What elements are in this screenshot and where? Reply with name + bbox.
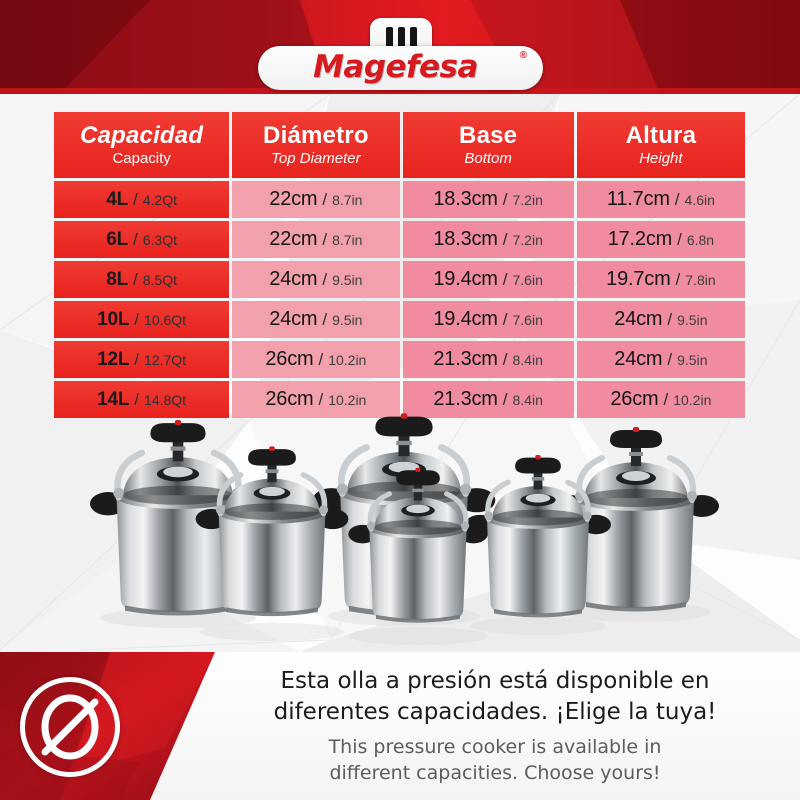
cell-height: 11.7cm / 4.6in — [577, 181, 745, 218]
value-separator: / — [322, 270, 327, 290]
header-label-es: Capacidad — [80, 123, 203, 149]
cell-capacity: 8L / 8.5Qt — [54, 261, 229, 298]
diameter-symbol-icon — [20, 677, 120, 777]
value-separator: / — [503, 190, 508, 210]
cell-diameter: 22cm / 8.7in — [232, 181, 399, 218]
value-imperial: 9.5in — [332, 312, 362, 328]
value-metric: 19.7cm — [606, 268, 670, 291]
value-separator: / — [503, 270, 508, 290]
caption-es-line2: diferentes capacidades. ¡Elige la tuya! — [205, 697, 785, 728]
value-imperial: 4.6in — [685, 192, 715, 208]
cell-height: 24cm / 9.5in — [577, 341, 745, 378]
value-imperial: 9.5in — [677, 312, 707, 328]
value-metric: 6L — [106, 229, 128, 251]
cell-base: 19.4cm / 7.6in — [403, 301, 574, 338]
column-header-capacity: Capacidad Capacity — [54, 112, 229, 178]
cell-base: 21.3cm / 8.4in — [403, 341, 574, 378]
cell-diameter: 24cm / 9.5in — [232, 301, 399, 338]
cell-diameter: 24cm / 9.5in — [232, 261, 399, 298]
header-label-es: Base — [459, 123, 517, 149]
brand-name: Magefesa — [313, 49, 478, 85]
cell-diameter: 26cm / 10.2in — [232, 341, 399, 378]
value-metric: 11.7cm — [607, 188, 670, 211]
value-metric: 18.3cm — [433, 188, 497, 211]
value-imperial: 7.8in — [685, 272, 715, 288]
value-metric: 24cm — [614, 348, 662, 371]
value-metric: 22cm — [269, 228, 317, 251]
header-label-es: Diámetro — [263, 123, 369, 149]
value-separator: / — [134, 350, 139, 370]
value-metric: 19.4cm — [433, 268, 497, 291]
value-imperial: 8.4in — [513, 352, 543, 368]
caption-es-line1: Esta olla a presión está disponible en — [205, 666, 785, 697]
value-separator: / — [503, 230, 508, 250]
cell-capacity: 4L / 4.2Qt — [54, 181, 229, 218]
value-metric: 24cm — [614, 308, 662, 331]
caption-english: This pressure cooker is available in dif… — [205, 734, 785, 786]
cell-base: 18.3cm / 7.2in — [403, 181, 574, 218]
value-separator: / — [318, 350, 323, 370]
value-separator: / — [134, 310, 139, 330]
value-imperial: 7.2in — [513, 192, 543, 208]
cell-height: 17.2cm / 6.8n — [577, 221, 745, 258]
column-header-diameter: Diámetro Top Diameter — [232, 112, 399, 178]
value-metric: 4L — [106, 189, 128, 211]
value-imperial: 6.3Qt — [143, 232, 177, 248]
value-imperial: 10.6Qt — [144, 312, 186, 328]
value-separator: / — [667, 350, 672, 370]
cell-capacity: 10L / 10.6Qt — [54, 301, 229, 338]
brand-logo: Magefesa ® — [258, 18, 543, 90]
value-separator: / — [667, 310, 672, 330]
table-row: 12L / 12.7Qt 26cm / 10.2in 21.3cm / 8.4i… — [54, 341, 745, 378]
header-label-en: Top Diameter — [271, 150, 361, 168]
footer-caption-band: Esta olla a presión está disponible en d… — [0, 652, 800, 800]
table-row: 4L / 4.2Qt 22cm / 8.7in 18.3cm / 7.2in 1… — [54, 181, 745, 218]
value-metric: 17.2cm — [608, 228, 672, 251]
header-label-en: Bottom — [464, 150, 512, 168]
logo-plate: Magefesa ® — [258, 46, 543, 90]
value-imperial: 12.7Qt — [144, 352, 186, 368]
value-metric: 12L — [97, 349, 129, 371]
value-separator: / — [133, 230, 138, 250]
cell-height: 19.7cm / 7.8in — [577, 261, 745, 298]
cell-base: 19.4cm / 7.6in — [403, 261, 574, 298]
cell-capacity: 6L / 6.3Qt — [54, 221, 229, 258]
value-imperial: 7.2in — [513, 232, 543, 248]
column-header-height: Altura Height — [577, 112, 745, 178]
specifications-table: Capacidad Capacity Diámetro Top Diameter… — [54, 112, 745, 421]
value-metric: 10L — [97, 309, 129, 331]
header-label-en: Height — [639, 150, 682, 168]
value-imperial: 8.7in — [332, 192, 362, 208]
cell-capacity: 12L / 12.7Qt — [54, 341, 229, 378]
value-metric: 26cm — [265, 348, 313, 371]
caption-en-line2: different capacities. Choose yours! — [205, 760, 785, 786]
value-imperial: 9.5in — [332, 272, 362, 288]
cell-height: 24cm / 9.5in — [577, 301, 745, 338]
table-row: 6L / 6.3Qt 22cm / 8.7in 18.3cm / 7.2in 1… — [54, 221, 745, 258]
value-imperial: 9.5in — [677, 352, 707, 368]
header-label-es: Altura — [626, 123, 697, 149]
value-metric: 8L — [106, 269, 128, 291]
value-separator: / — [676, 270, 681, 290]
value-metric: 18.3cm — [433, 228, 497, 251]
value-metric: 24cm — [269, 308, 317, 331]
value-separator: / — [322, 230, 327, 250]
value-imperial: 4.2Qt — [143, 192, 177, 208]
value-separator: / — [503, 310, 508, 330]
value-separator: / — [133, 270, 138, 290]
cell-diameter: 22cm / 8.7in — [232, 221, 399, 258]
column-header-base: Base Bottom — [403, 112, 574, 178]
table-header-row: Capacidad Capacity Diámetro Top Diameter… — [54, 112, 745, 178]
header-label-en: Capacity — [112, 150, 170, 168]
value-separator: / — [677, 230, 682, 250]
value-imperial: 10.2in — [328, 352, 366, 368]
value-imperial: 7.6in — [513, 312, 543, 328]
value-imperial: 8.7in — [332, 232, 362, 248]
table-row: 10L / 10.6Qt 24cm / 9.5in 19.4cm / 7.6in… — [54, 301, 745, 338]
value-separator: / — [133, 190, 138, 210]
caption-spanish: Esta olla a presión está disponible en d… — [205, 666, 785, 728]
caption-en-line1: This pressure cooker is available in — [205, 734, 785, 760]
value-metric: 24cm — [269, 268, 317, 291]
registered-mark-icon: ® — [520, 50, 527, 61]
value-metric: 22cm — [269, 188, 317, 211]
value-metric: 21.3cm — [433, 348, 497, 371]
product-image-pressure-cookers — [0, 404, 800, 654]
value-imperial: 7.6in — [513, 272, 543, 288]
value-separator: / — [675, 190, 680, 210]
cell-base: 18.3cm / 7.2in — [403, 221, 574, 258]
value-separator: / — [503, 350, 508, 370]
value-metric: 19.4cm — [433, 308, 497, 331]
value-separator: / — [322, 310, 327, 330]
value-imperial: 8.5Qt — [143, 272, 177, 288]
value-separator: / — [322, 190, 327, 210]
table-row: 8L / 8.5Qt 24cm / 9.5in 19.4cm / 7.6in 1… — [54, 261, 745, 298]
value-imperial: 6.8n — [687, 232, 714, 248]
